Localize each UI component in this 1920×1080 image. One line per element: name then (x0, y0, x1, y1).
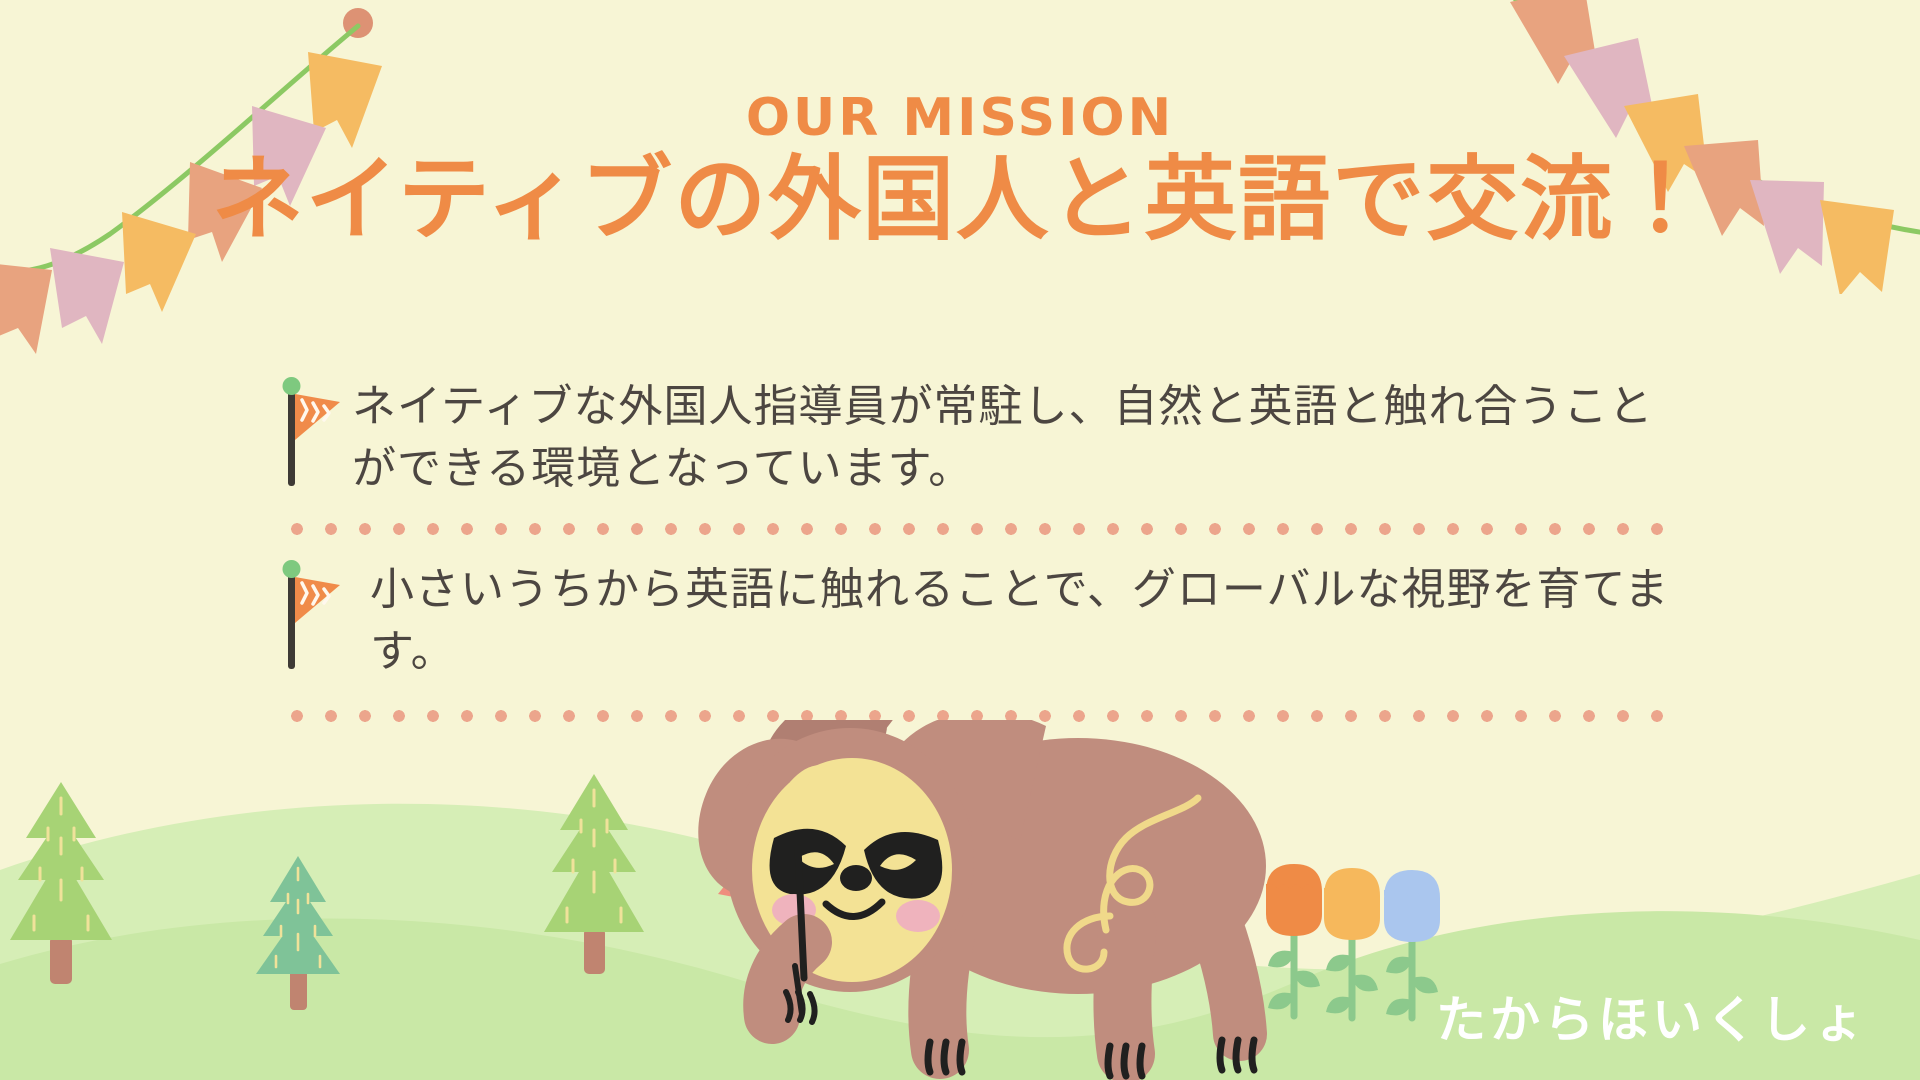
page-title: ネイティブの外国人と英語で交流！ (0, 152, 1920, 249)
sloth-face (752, 758, 952, 982)
sloth-mouth (826, 902, 882, 917)
sloth-cheek-left (772, 894, 816, 926)
sloth-cheek-right (896, 900, 940, 932)
sloth-nose (840, 865, 872, 891)
sloth-eye-mask-left (770, 829, 846, 895)
sloth-claws (928, 1040, 1254, 1076)
sloth-stick (795, 966, 802, 1014)
sloth-body (890, 738, 1266, 994)
poster-canvas: OUR MISSION ネイティブの外国人と英語で交流！ ネイティブな外国人指導… (0, 0, 1920, 1080)
list-item: 小さいうちから英語に触れることで、グローバルな視野を育てます。 (280, 555, 1680, 684)
list-item: ネイティブな外国人指導員が常駐し、自然と英語と触れ合うことができる環境となってい… (280, 372, 1680, 501)
sloth-vine (1067, 798, 1198, 969)
sloth-eye-mask-right (864, 832, 942, 899)
pine-tree-icon (10, 782, 112, 984)
pennant-flag-icon (280, 559, 342, 671)
tulip-icon (1324, 868, 1380, 1018)
tulip-icon (1266, 864, 1322, 1016)
pine-tree-icon (544, 774, 644, 974)
pine-tree-icon (256, 856, 340, 1010)
pennant-flag-icon (280, 376, 342, 488)
sloth-head (726, 728, 974, 992)
brand-logo-text: たからほいくしょ (1436, 980, 1868, 1052)
dotted-divider (280, 710, 1680, 722)
list-item-text: 小さいうちから英語に触れることで、グローバルな視野を育てます。 (352, 555, 1680, 684)
mission-list: ネイティブな外国人指導員が常駐し、自然と英語と触れ合うことができる環境となってい… (280, 372, 1680, 722)
sloth-pennant-flag (718, 816, 802, 910)
tulip-icon (1384, 870, 1440, 1018)
sloth-mascot (698, 720, 1266, 1076)
bunting-knob-left (343, 8, 373, 38)
list-item-text: ネイティブな外国人指導員が常駐し、自然と英語と触れ合うことができる環境となってい… (352, 372, 1680, 501)
dotted-divider (280, 523, 1680, 535)
page-kicker: OUR MISSION (0, 88, 1920, 148)
